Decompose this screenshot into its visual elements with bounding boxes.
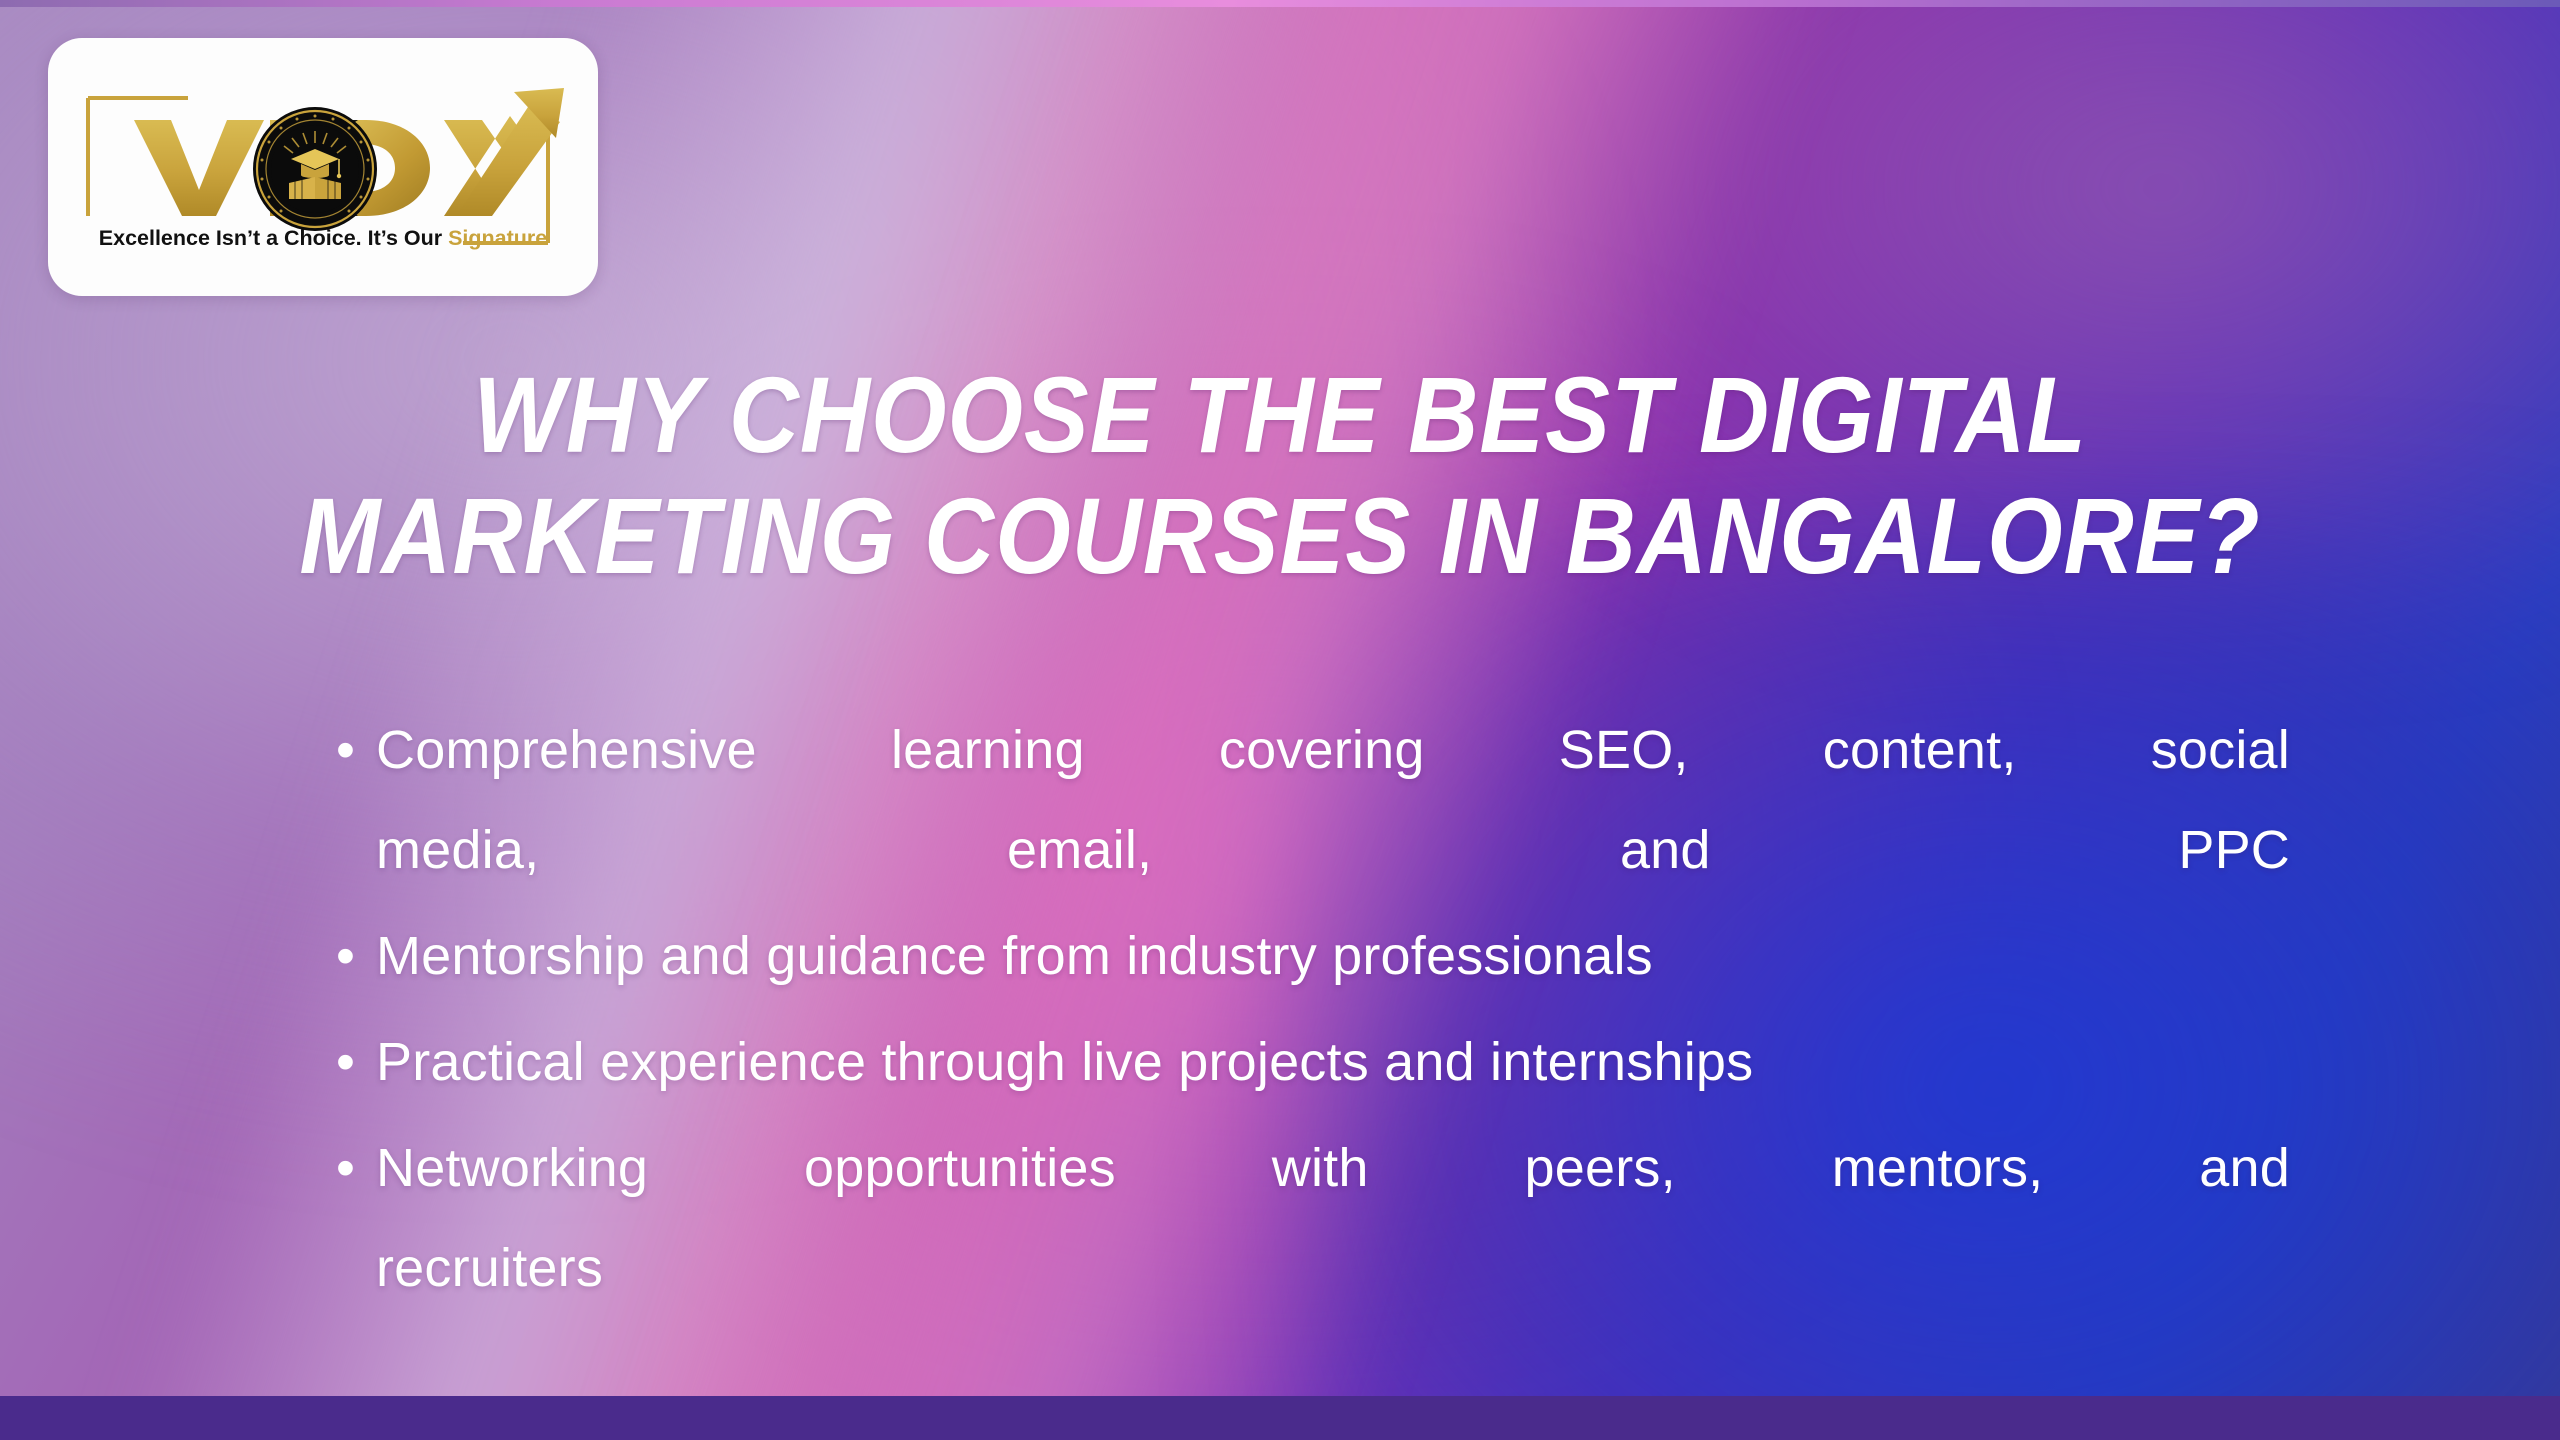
logo-tagline: Excellence Isn’t a Choice. It’s Our Sign… [99, 226, 548, 250]
list-item-body: Networking opportunities with peers, men… [376, 1118, 2290, 1318]
page-title-line-1: WHY CHOOSE THE BEST DIGITAL [245, 355, 2315, 476]
logo-letter-v [134, 120, 264, 216]
logo-tagline-dark: Excellence Isn’t a Choice. It’s Our [99, 226, 448, 250]
page-title: WHY CHOOSE THE BEST DIGITAL MARKETING CO… [0, 355, 2560, 597]
background-top-edge-line [0, 0, 2560, 7]
list-item-body: Comprehensive learning covering SEO, con… [376, 700, 2290, 900]
logo-artwork: Excellence Isn’t a Choice. It’s Our Sign… [48, 38, 598, 296]
slide-canvas: Excellence Isn’t a Choice. It’s Our Sign… [0, 0, 2560, 1440]
benefits-list: • Comprehensive learning covering SEO, c… [330, 700, 2290, 1324]
logo-card[interactable]: Excellence Isn’t a Choice. It’s Our Sign… [48, 38, 598, 296]
list-item-wrap-tail: recruiters [376, 1218, 2290, 1318]
vidx-logo-svg: Excellence Isn’t a Choice. It’s Our Sign… [48, 38, 598, 296]
bullet-dot-icon: • [330, 700, 376, 800]
list-item-text: Networking opportunities with peers, men… [376, 1138, 2290, 1198]
page-title-line-2: MARKETING COURSES IN BANGALORE? [245, 476, 2315, 597]
footer-bar [0, 1396, 2560, 1440]
list-item-wrap-tail: media, email, and PPC [376, 800, 2290, 900]
list-item: • Comprehensive learning covering SEO, c… [330, 700, 2290, 900]
list-item: • Networking opportunities with peers, m… [330, 1118, 2290, 1318]
list-item: • Practical experience through live proj… [330, 1012, 2290, 1112]
list-item-body: Practical experience through live projec… [376, 1012, 2290, 1112]
bullet-dot-icon: • [330, 906, 376, 1006]
list-item-text: Practical experience through live projec… [376, 1032, 1753, 1092]
list-item-body: Mentorship and guidance from industry pr… [376, 906, 2290, 1006]
bullet-dot-icon: • [330, 1012, 376, 1112]
logo-tagline-accent: Signature [448, 226, 547, 250]
list-item-text: Mentorship and guidance from industry pr… [376, 926, 1653, 986]
list-item-text: Comprehensive learning covering SEO, con… [376, 720, 2290, 780]
list-item: • Mentorship and guidance from industry … [330, 906, 2290, 1006]
graduation-cap-book-seal-icon [253, 107, 377, 231]
bullet-dot-icon: • [330, 1118, 376, 1218]
